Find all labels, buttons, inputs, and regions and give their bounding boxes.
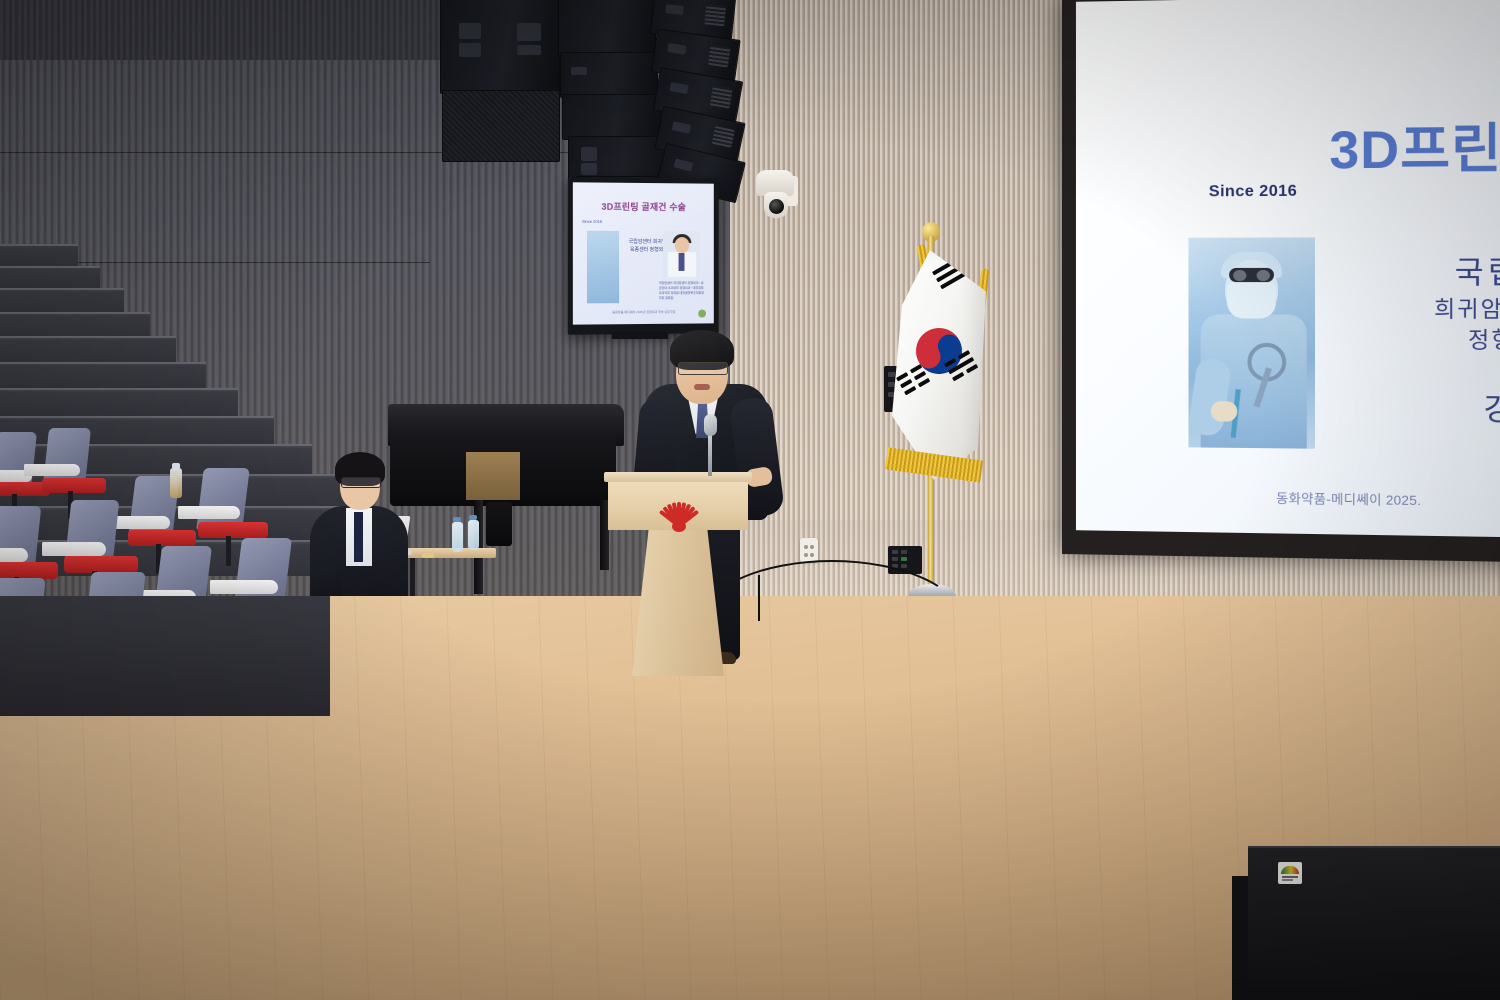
podium-emblem-icon	[656, 498, 702, 532]
monitor-speaker-bio: 국립암센터 희귀암센터 정형외과 / 성균관대 의과대학 정형외과 / 대한정형…	[659, 281, 704, 301]
slide-footer: 동화약품-메디쎄이 2025.	[1276, 488, 1421, 509]
necktie	[354, 512, 363, 562]
eyeglasses	[341, 477, 381, 488]
confidence-monitor: 3D프린팅 골재건 수술 Since 2016 국립암센터 희귀암 .육종센터 …	[568, 177, 719, 335]
floor-shadow-left	[0, 596, 330, 716]
camera-lens-icon	[769, 199, 784, 214]
lecture-hall-scene: 3D프린팅 골재건 수술 Since 2016 국립암센터 희귀암 .육종센터 …	[0, 0, 1500, 1000]
monitor-slide-photo	[587, 231, 619, 304]
projection-screen: 3D프린팅 Since 2016 국립 희귀암 . 정형 강 동화약	[1062, 0, 1500, 562]
slide-title: 3D프린팅	[1329, 105, 1500, 184]
slide-surgeon-photo	[1189, 237, 1315, 448]
slide-body-text: 국립 희귀암 . 정형 강	[1434, 253, 1500, 431]
slide-line-1: 국립	[1434, 253, 1500, 294]
eyeglasses	[678, 362, 728, 375]
line-array-module	[560, 52, 658, 98]
table-item	[422, 553, 434, 558]
slide-line-2: 희귀암 .	[1434, 295, 1500, 325]
monitor-speaker-portrait	[663, 231, 700, 277]
monitor-slide-since: Since 2016	[582, 219, 602, 224]
bottle-cap	[453, 517, 461, 522]
subwoofer-grille	[442, 90, 560, 162]
piano-inner-panel	[466, 452, 520, 500]
projection-screen-surface: 3D프린팅 Since 2016 국립 희귀암 . 정형 강 동화약	[1076, 0, 1500, 537]
line-array-module	[562, 94, 662, 140]
monitor-logo-icon	[698, 310, 706, 318]
podium	[604, 472, 752, 702]
slide-line-4: 강	[1434, 390, 1500, 432]
korean-national-flag	[880, 222, 1000, 622]
wall-outlet	[800, 538, 818, 562]
microphone-stem	[708, 430, 712, 476]
rear-monitor-back	[1248, 846, 1500, 1000]
slide-line-3: 정형	[1434, 325, 1500, 356]
ptz-camera	[756, 166, 804, 228]
line-array-module	[558, 0, 656, 56]
microphone-head	[704, 414, 717, 436]
monitor-slide-title: 3D프린팅 골재건 수술	[573, 199, 714, 213]
water-bottle	[170, 468, 182, 498]
mouth	[694, 384, 710, 390]
flag-cloth	[886, 250, 986, 480]
water-bottle	[452, 522, 463, 552]
slide-since-label: Since 2016	[1209, 183, 1297, 202]
confidence-monitor-screen: 3D프린팅 골재건 수술 Since 2016 국립암센터 희귀암 .육종센터 …	[573, 182, 714, 324]
bottle-cap	[469, 515, 477, 520]
energy-rating-sticker	[1278, 862, 1302, 884]
monitor-slide-footer: 동화약품-메디쎄이 2025년 정형외과 학술 심포지엄	[573, 309, 714, 314]
bottle-cap	[172, 463, 180, 469]
subwoofer-cabinet	[440, 0, 560, 94]
water-bottle	[468, 520, 479, 550]
